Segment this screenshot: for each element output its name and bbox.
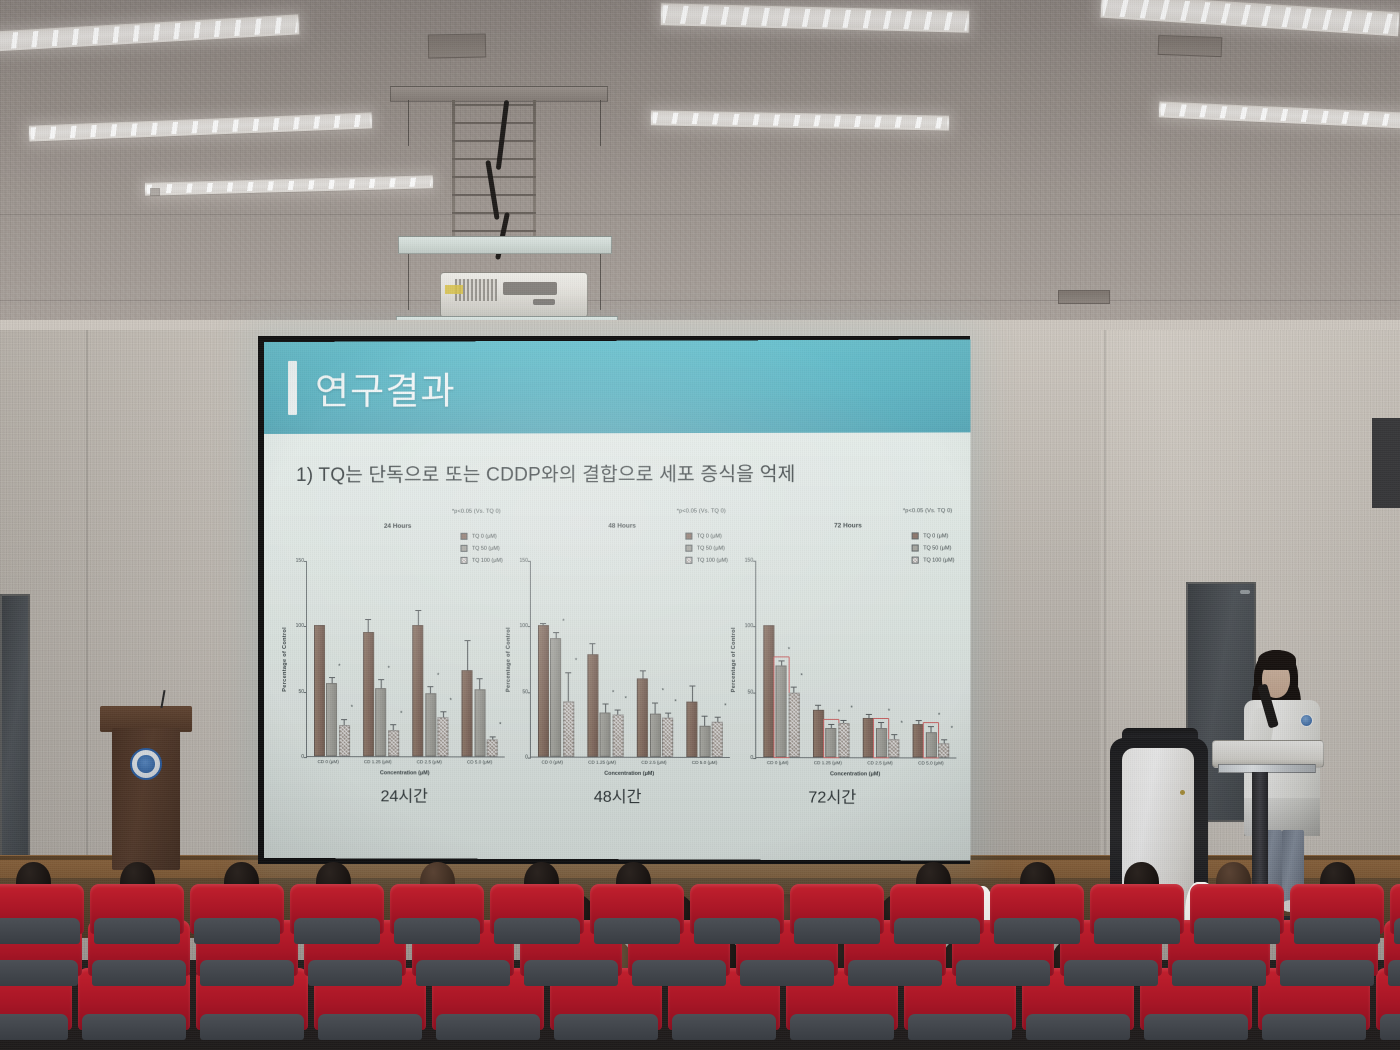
left-exit-door[interactable] [0, 594, 30, 894]
legend-item: TQ 0 (μM) [461, 533, 503, 540]
bar-slot [699, 561, 710, 757]
seat-backrest [908, 1014, 1012, 1040]
bar [637, 678, 648, 757]
seat-backrest [318, 1014, 422, 1040]
y-axis-label: Percentage of Control [506, 627, 515, 692]
seat-backrest [1094, 918, 1180, 944]
legend-label: TQ 50 (μM) [697, 545, 725, 551]
bar-slot [687, 561, 698, 757]
error-bar-cap [615, 710, 621, 711]
error-bar [381, 680, 382, 688]
error-bar-cap [865, 714, 871, 715]
bar-slot: * [339, 561, 350, 756]
bar [412, 625, 423, 756]
chart-significance-note: *p<0.05 (Vs. TQ 0) [452, 509, 501, 515]
error-bar-cap [878, 722, 884, 723]
error-bar-cap [602, 703, 608, 704]
seat-backrest [82, 1014, 186, 1040]
bar-slot [474, 561, 485, 757]
chart-title: 24 Hours [384, 523, 411, 530]
bar [813, 710, 824, 757]
error-bar [818, 706, 819, 710]
slide-body: 1) TQ는 단독으로 또는 CDDP와의 결합으로 세포 증식을 억제 *p<… [264, 432, 971, 860]
bar-slot: * [650, 561, 661, 757]
error-bar-cap [828, 723, 834, 724]
error-bar [931, 727, 932, 732]
error-bar-cap [891, 734, 897, 735]
y-axis-label: Percentage of Control [731, 627, 740, 692]
error-bar [843, 720, 844, 723]
error-bar [430, 687, 431, 694]
error-bar-cap [341, 719, 347, 720]
audience-seating [0, 880, 1400, 1050]
x-tick-label: CD 2.5 (μM) [641, 758, 666, 770]
error-bar-cap [665, 713, 671, 714]
bar-slot [462, 561, 473, 757]
error-bar [592, 644, 593, 655]
legend-item: TQ 50 (μM) [461, 545, 503, 552]
bar [563, 702, 574, 757]
chart-significance-note: *p<0.05 (Vs. TQ 0) [677, 508, 726, 514]
significance-star: * [400, 711, 402, 717]
legend-swatch-icon [912, 545, 919, 552]
seat-backrest [1394, 918, 1400, 944]
bar [776, 665, 787, 757]
bar-slot: * [487, 561, 498, 757]
error-bar [793, 687, 794, 692]
significance-star: * [450, 698, 452, 704]
bar-group: * [687, 561, 723, 757]
bar-slot [314, 561, 325, 756]
error-bar [368, 620, 369, 632]
x-tick-label: CD 1.25 (μM) [588, 758, 616, 770]
ceiling-vent-panel [1058, 290, 1110, 304]
error-bar-cap [329, 677, 335, 678]
error-bar-cap [540, 623, 546, 624]
error-bar [393, 725, 394, 730]
seat-backrest [1172, 960, 1266, 986]
presenter-fringe [1258, 650, 1296, 670]
significance-star: * [850, 706, 852, 712]
error-bar-cap [391, 724, 397, 725]
error-bar [467, 641, 468, 670]
error-bar-cap [565, 672, 571, 673]
bar-slot [763, 561, 774, 757]
error-bar-cap [791, 687, 797, 688]
error-bar [717, 718, 718, 722]
seat-backrest [1026, 1014, 1130, 1040]
legend-label: TQ 0 (μM) [923, 533, 948, 539]
bar [687, 702, 698, 757]
error-bar-cap [590, 643, 596, 644]
cabinet-indicator-icon [1180, 790, 1185, 795]
y-axis-ticks: 050100150 [292, 561, 306, 757]
chart-caption-72h: 72시간 [725, 783, 940, 808]
bar [938, 743, 949, 758]
side-display-panel [1372, 418, 1400, 508]
y-tick-label: 100 [745, 623, 753, 629]
seat-backrest [0, 1014, 68, 1040]
seat-backrest [524, 960, 618, 986]
plot-canvas: ******** [755, 561, 956, 759]
x-axis-tick-labels: CD 0 (μM)CD 1.25 (μM)CD 2.5 (μM)CD 5.0 (… [754, 758, 956, 771]
seat-backrest [1194, 918, 1280, 944]
error-bar-cap [378, 680, 384, 681]
x-tick-label: CD 2.5 (μM) [417, 757, 442, 769]
y-axis-ticks: 050100150 [516, 561, 530, 758]
error-bar [781, 661, 782, 665]
error-bar [868, 715, 869, 718]
error-bar [642, 671, 643, 678]
chart-significance-note: *p<0.05 (Vs. TQ 0) [903, 508, 952, 514]
y-tick-label: 50 [748, 689, 754, 695]
bar-slot: * [388, 561, 399, 756]
error-bar [944, 740, 945, 743]
bar-group: ** [412, 561, 448, 756]
seat-backrest [1144, 1014, 1248, 1040]
seat-backrest [554, 1014, 658, 1040]
ceiling-vent-panel [1158, 35, 1223, 57]
error-bar [344, 720, 345, 725]
seat-backrest [894, 918, 980, 944]
bar [913, 724, 924, 757]
error-bar [555, 633, 556, 638]
bar [438, 717, 449, 756]
error-bar [605, 704, 606, 712]
seat-backrest [1280, 960, 1374, 986]
significance-star: * [800, 673, 802, 679]
legend-swatch-icon [686, 545, 693, 552]
error-bar [480, 679, 481, 689]
significance-star: * [575, 659, 577, 665]
error-bar-cap [639, 671, 645, 672]
bar-group: ** [813, 561, 850, 758]
bar-group: ** [538, 561, 574, 757]
seat-backrest [1294, 918, 1380, 944]
projection-screen: 연구결과 1) TQ는 단독으로 또는 CDDP와의 결합으로 세포 증식을 억… [264, 339, 971, 860]
legend-label: TQ 0 (μM) [472, 533, 497, 539]
error-bar [692, 686, 693, 702]
seat-backrest [740, 960, 834, 986]
significance-star: * [674, 699, 676, 705]
bar [876, 728, 887, 757]
y-tick-label: 0 [750, 755, 753, 761]
plot-area: Percentage of Control050100150******* [282, 561, 505, 758]
bar-slot [813, 561, 824, 757]
seat-backrest [294, 918, 380, 944]
seat-backrest [92, 960, 186, 986]
bar-slot: * [926, 561, 937, 758]
bar [326, 683, 337, 756]
bar-slot: * [563, 561, 574, 757]
seat-backrest [194, 918, 280, 944]
bar-slot: * [550, 561, 561, 757]
bar [587, 654, 598, 756]
page-title: 연구결과 [315, 360, 456, 414]
x-axis-tick-labels: CD 0 (μM)CD 1.25 (μM)CD 2.5 (μM)CD 5.0 (… [529, 758, 730, 771]
bar-slot: * [788, 561, 799, 757]
bar-slot: * [938, 561, 949, 758]
error-bar-cap [941, 740, 947, 741]
bar [550, 639, 561, 757]
bar [363, 632, 374, 756]
error-bar [543, 624, 544, 625]
seat-backrest [1380, 1014, 1400, 1040]
significance-star: * [625, 697, 627, 703]
bar-group: ** [314, 561, 350, 756]
seat-backrest [694, 918, 780, 944]
error-bar-cap [841, 720, 847, 721]
y-tick-label: 150 [745, 558, 753, 564]
x-tick-label: CD 1.25 (μM) [364, 757, 392, 769]
bar-slot: * [600, 561, 611, 757]
significance-star: * [901, 721, 903, 727]
bar-slot: * [425, 561, 436, 756]
error-bar-cap [365, 619, 371, 620]
error-bar-cap [689, 685, 695, 686]
ceiling-vent-panel [150, 188, 160, 196]
bar-slot [863, 561, 874, 758]
bar [425, 693, 436, 756]
bar-slot: * [838, 561, 849, 758]
seat-backrest [1388, 960, 1400, 986]
bar-slot: * [876, 561, 887, 758]
chart-panel-24-hours: *p<0.05 (Vs. TQ 0)24 HoursTQ 0 (μM)TQ 50… [282, 509, 505, 777]
bar-group: ** [913, 561, 950, 758]
legend-item: TQ 0 (μM) [686, 533, 728, 540]
university-emblem-icon [130, 748, 162, 780]
seat-backrest [200, 960, 294, 986]
bar [662, 717, 673, 756]
significance-star: * [951, 726, 953, 732]
error-bar-cap [815, 705, 821, 706]
seat-backrest [794, 918, 880, 944]
wooden-podium[interactable] [112, 728, 180, 870]
seat-backrest [594, 918, 680, 944]
bar-group: ** [363, 561, 399, 756]
chart-title: 48 Hours [608, 523, 636, 530]
chart-caption-48h: 48시간 [511, 783, 725, 808]
bar [712, 721, 723, 757]
error-bar-cap [778, 660, 784, 661]
x-tick-label: CD 5.0 (μM) [467, 757, 492, 769]
error-bar [918, 721, 919, 725]
error-bar-cap [427, 686, 433, 687]
bar [699, 725, 710, 757]
bar [376, 688, 387, 756]
legend-swatch-icon [461, 545, 468, 552]
error-bar [893, 735, 894, 739]
legend-label: TQ 50 (μM) [923, 545, 951, 551]
legend-item: TQ 0 (μM) [912, 532, 954, 539]
error-bar-cap [464, 640, 470, 641]
x-tick-label: CD 1.25 (μM) [814, 758, 842, 770]
legend-label: TQ 0 (μM) [697, 533, 722, 539]
seat-backrest [308, 960, 402, 986]
seat-backrest [0, 918, 80, 944]
y-tick-label: 50 [522, 689, 528, 695]
error-bar [418, 611, 419, 625]
bar-slot: * [662, 561, 673, 757]
bar [650, 713, 661, 756]
bar [314, 625, 325, 756]
bar-slot [637, 561, 648, 757]
bar [487, 739, 498, 756]
error-bar [705, 716, 706, 725]
chart-panel-48-hours: *p<0.05 (Vs. TQ 0)48 HoursTQ 0 (μM)TQ 50… [506, 508, 730, 777]
bar-group: ** [763, 561, 800, 757]
bar-slot [363, 561, 374, 756]
plot-area: Percentage of Control050100150******** [731, 561, 957, 759]
bar-group: ** [637, 561, 673, 757]
bar [474, 690, 485, 757]
x-axis-label: Concentration (μM) [754, 771, 956, 778]
error-bar-cap [553, 633, 559, 634]
seat-backrest [0, 960, 78, 986]
seat-backrest [672, 1014, 776, 1040]
seat-backrest [200, 1014, 304, 1040]
bar-slot: * [888, 561, 899, 758]
error-bar [618, 711, 619, 715]
bar [388, 730, 399, 756]
error-bar-cap [702, 715, 708, 716]
projection-screen-frame: 연구결과 1) TQ는 단독으로 또는 CDDP와의 결합으로 세포 증식을 억… [258, 336, 970, 864]
legend-swatch-icon [461, 533, 468, 540]
bar-slot: * [776, 561, 787, 757]
title-accent-bar [288, 361, 297, 415]
significance-star: * [351, 706, 353, 712]
bar [339, 725, 350, 756]
y-tick-label: 150 [520, 558, 528, 564]
plot-canvas: ******* [530, 561, 730, 758]
seat-backrest [94, 918, 180, 944]
seat-backrest [416, 960, 510, 986]
bar [462, 670, 473, 756]
lecture-hall-scene: 연구결과 1) TQ는 단독으로 또는 CDDP와의 결합으로 세포 증식을 억… [0, 0, 1400, 1050]
y-tick-label: 50 [298, 689, 304, 695]
y-tick-label: 150 [296, 558, 304, 564]
chart-caption-24h: 24시간 [298, 782, 511, 807]
seat-backrest [394, 918, 480, 944]
x-tick-label: CD 2.5 (μM) [867, 758, 893, 770]
bar-group: ** [863, 561, 900, 758]
bar [926, 732, 937, 757]
seat-backrest [632, 960, 726, 986]
y-tick-label: 100 [520, 623, 528, 629]
x-axis-label: Concentration (μM) [305, 770, 505, 776]
bar-slot: * [712, 561, 723, 757]
bar [826, 728, 837, 757]
chart-panel-72-hours: *p<0.05 (Vs. TQ 0)72 HoursTQ 0 (μM)TQ 50… [731, 508, 957, 778]
bar [538, 625, 549, 756]
error-bar [881, 723, 882, 728]
ceiling-projector [440, 272, 588, 318]
seat-backrest [436, 1014, 540, 1040]
plot-area: Percentage of Control050100150******* [506, 561, 730, 758]
significance-star: * [724, 703, 726, 709]
bar-slot [913, 561, 924, 758]
error-bar-cap [652, 702, 658, 703]
plot-canvas: ******* [306, 561, 505, 758]
error-bar [331, 678, 332, 683]
bar [763, 626, 774, 758]
projector-shelf [398, 236, 612, 254]
y-axis-label: Percentage of Control [282, 627, 291, 692]
legend-item: TQ 50 (μM) [686, 545, 728, 552]
error-bar-cap [415, 610, 421, 611]
legend-item: TQ 50 (μM) [912, 544, 954, 551]
bar-group: ** [587, 561, 623, 757]
seat-backrest [790, 1014, 894, 1040]
legend-label: TQ 50 (μM) [472, 545, 500, 551]
bar [600, 712, 611, 757]
x-tick-label: CD 0 (μM) [541, 758, 562, 770]
chart-legend: TQ 0 (μM)TQ 50 (μM)TQ 100 (μM) [912, 532, 954, 563]
chart-legend: TQ 0 (μM)TQ 50 (μM)TQ 100 (μM) [461, 533, 503, 564]
bar-slot: * [376, 561, 387, 756]
charts-row: *p<0.05 (Vs. TQ 0)24 HoursTQ 0 (μM)TQ 50… [264, 508, 971, 778]
error-bar [655, 703, 656, 714]
seat-backrest [494, 918, 580, 944]
bar-group: * [462, 561, 498, 757]
x-tick-label: CD 0 (μM) [317, 757, 338, 769]
bar [838, 723, 849, 757]
slide-header-bar: 연구결과 [264, 339, 971, 434]
y-tick-label: 0 [301, 754, 304, 760]
slide-subtitle: 1) TQ는 단독으로 또는 CDDP와의 결합으로 세포 증식을 억제 [296, 459, 971, 487]
error-bar-cap [477, 678, 483, 679]
seat-backrest [956, 960, 1050, 986]
ceiling-vent-panel [428, 33, 486, 58]
x-axis-label: Concentration (μM) [529, 771, 730, 778]
seat-backrest [1262, 1014, 1366, 1040]
error-bar [667, 714, 668, 718]
x-tick-label: CD 5.0 (μM) [918, 758, 944, 770]
projector-scissor-lift [452, 100, 536, 248]
lab-coat-emblem-icon [1300, 714, 1313, 727]
error-bar [492, 737, 493, 740]
error-bar-cap [490, 736, 496, 737]
y-axis-ticks: 050100150 [741, 561, 755, 758]
legend-swatch-icon [912, 532, 919, 539]
seat-backrest [994, 918, 1080, 944]
bar [788, 693, 799, 757]
x-tick-label: CD 5.0 (μM) [692, 758, 717, 770]
error-bar [568, 673, 569, 702]
y-tick-label: 100 [296, 623, 304, 629]
chart-captions-row: 24시간 48시간 72시간 [264, 782, 971, 808]
bar-slot: * [612, 561, 623, 757]
y-tick-label: 0 [525, 755, 528, 761]
x-tick-label: CD 0 (μM) [767, 758, 789, 770]
error-bar [831, 724, 832, 728]
chart-title: 72 Hours [834, 522, 862, 529]
bar-slot: * [438, 561, 449, 756]
bar-slot: * [326, 561, 337, 756]
error-bar-cap [916, 720, 922, 721]
significance-star: * [499, 723, 501, 729]
error-bar-cap [440, 711, 446, 712]
bar-slot [538, 561, 549, 757]
ceiling [0, 0, 1400, 330]
error-bar-cap [928, 726, 934, 727]
legend-swatch-icon [686, 533, 693, 540]
bar [612, 715, 623, 757]
x-axis-tick-labels: CD 0 (μM)CD 1.25 (μM)CD 2.5 (μM)CD 5.0 (… [305, 757, 505, 769]
seat-backrest [1064, 960, 1158, 986]
bar [863, 718, 874, 758]
bar-slot [587, 561, 598, 757]
